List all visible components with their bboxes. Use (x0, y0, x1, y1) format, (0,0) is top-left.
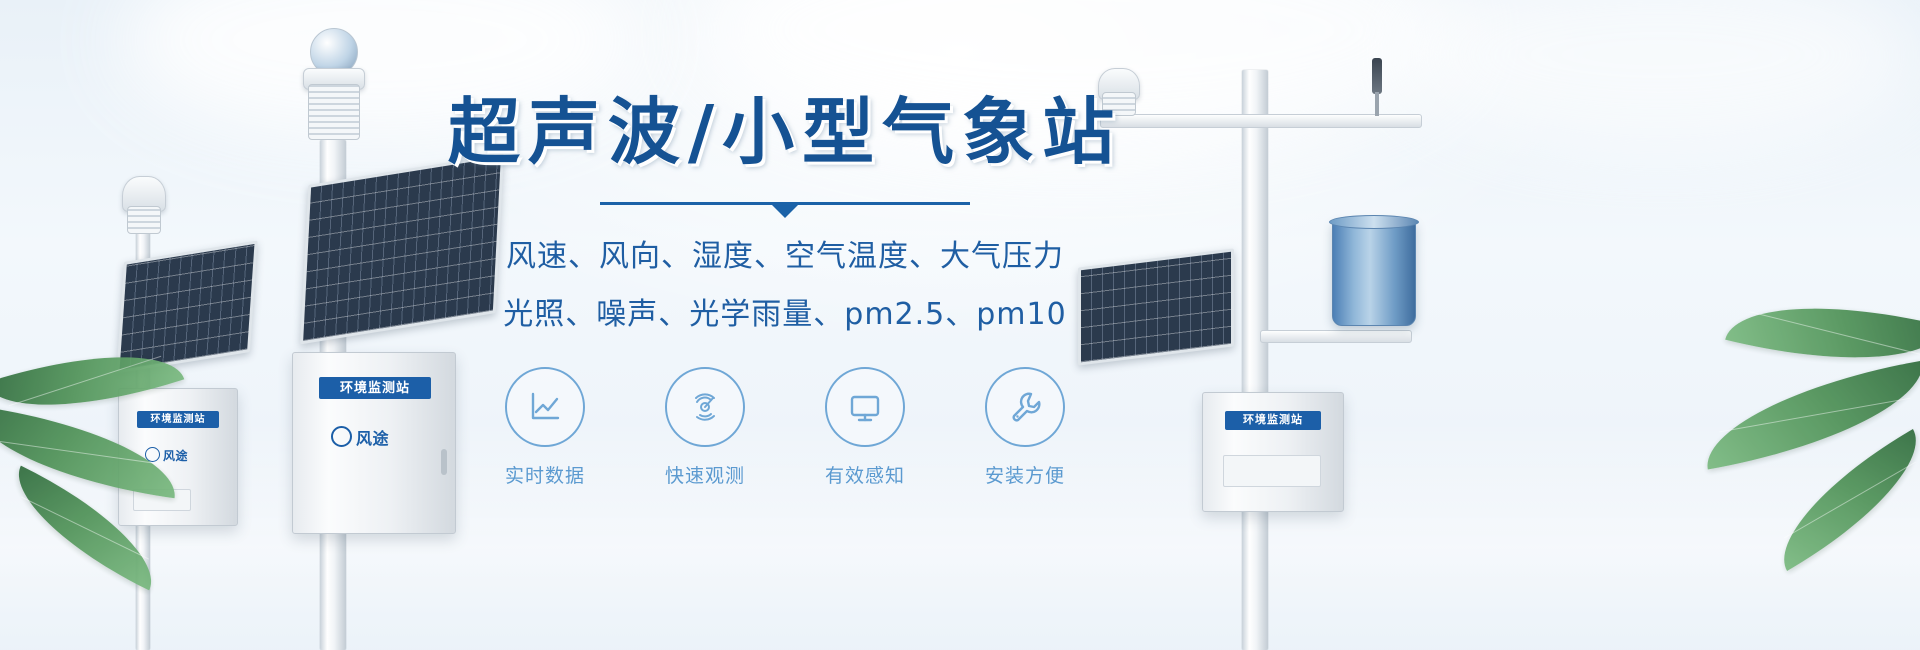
feature-item-fast-observation[interactable]: 快速观测 (657, 367, 753, 488)
banner-content: 超声波/小型气象站 风速、风向、湿度、空气温度、大气压力 光照、噪声、光学雨量、… (440, 96, 1130, 488)
cross-arm (1100, 114, 1422, 128)
feature-label: 实时数据 (497, 461, 593, 488)
cabinet-brand: 风途 (331, 423, 389, 449)
lower-cross-arm (1260, 330, 1412, 343)
brand-mark (331, 426, 352, 447)
vane-body (1372, 58, 1382, 94)
product-banner: 环境监测站 风途 环境监测站 风途 (0, 0, 1920, 650)
feature-list: 实时数据 快速观测 (440, 367, 1130, 488)
banner-headline: 超声波/小型气象站 (440, 96, 1130, 168)
sensor-ring-stack (308, 84, 360, 140)
cabinet-vent (1223, 455, 1321, 487)
cabinet-label: 环境监测站 (1225, 411, 1321, 430)
solar-panel (116, 240, 257, 373)
banner-subtitle-line2: 光照、噪声、光学雨量、pm2.5、pm10 (440, 289, 1130, 333)
wind-vane (1360, 58, 1394, 116)
headline-divider (600, 202, 970, 205)
wrench-icon (985, 367, 1065, 447)
cabinet-brand: 风途 (145, 445, 188, 464)
banner-subtitle-line1: 风速、风向、湿度、空气温度、大气压力 (440, 231, 1130, 275)
cabinet-label: 环境监测站 (319, 377, 431, 399)
feature-item-realtime-data[interactable]: 实时数据 (497, 367, 593, 488)
feature-label: 有效感知 (817, 461, 913, 488)
monitor-screen-icon (825, 367, 905, 447)
equipment-cabinet: 环境监测站 (1202, 392, 1344, 512)
mast-pole (1242, 70, 1268, 650)
rain-gauge (1332, 220, 1416, 326)
feature-label: 安装方便 (977, 461, 1073, 488)
feature-item-effective-sensing[interactable]: 有效感知 (817, 367, 913, 488)
line-chart-icon (505, 367, 585, 447)
equipment-cabinet: 环境监测站 风途 (292, 352, 456, 534)
sensor-ring-stack (127, 206, 161, 234)
cabinet-label: 环境监测站 (137, 411, 219, 428)
vane-rod (1375, 92, 1379, 116)
feature-label: 快速观测 (657, 461, 753, 488)
feature-item-easy-installation[interactable]: 安装方便 (977, 367, 1073, 488)
radar-scan-icon (665, 367, 745, 447)
